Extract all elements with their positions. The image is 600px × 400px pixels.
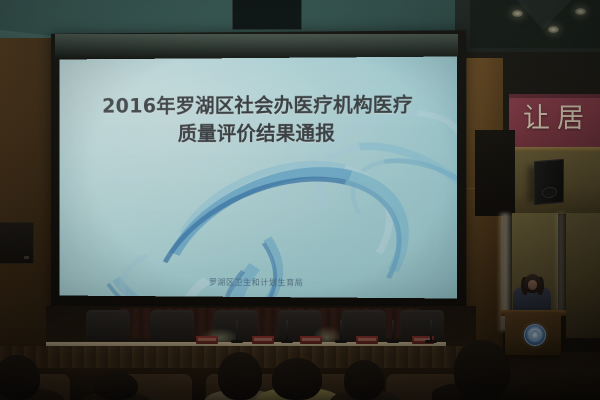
stage-nameplate	[252, 336, 274, 344]
stage-nameplate	[196, 336, 218, 344]
projection-screen-housing	[55, 34, 458, 58]
stage-nameplate	[300, 336, 322, 344]
slide-title-line-1: 2016年罗湖区社会办医疗机构医疗	[60, 91, 457, 121]
wall-speaker-right-icon	[534, 159, 564, 206]
slide-title: 2016年罗湖区社会办医疗机构医疗 质量评价结果通报	[60, 91, 457, 148]
audience-head	[0, 355, 40, 400]
microphone-base-icon	[425, 340, 437, 343]
nameplate-text-line	[198, 338, 216, 341]
podium-emblem-icon	[524, 324, 546, 346]
microphone-base-icon	[335, 340, 347, 343]
nameplate-text-line	[302, 338, 320, 341]
banner-text: 让居	[523, 103, 591, 135]
microphone-base-icon	[281, 340, 293, 343]
ceiling-downlight-icon	[512, 10, 523, 17]
podium	[505, 313, 561, 355]
speaker-cone-icon	[542, 186, 557, 198]
red-wall-banner: 让居	[509, 94, 600, 147]
right-wall-panel-far	[566, 213, 600, 338]
audience-head	[94, 372, 138, 400]
stage-microphone-icon	[392, 320, 394, 342]
microphone-base-icon	[387, 340, 399, 343]
ceiling-downlight-icon	[548, 26, 559, 33]
audience-head	[218, 352, 262, 400]
stage-microphone-icon	[340, 320, 342, 342]
nameplate-text-line	[254, 338, 272, 341]
ceiling-downlight-icon	[575, 8, 586, 15]
audience-head	[344, 360, 384, 400]
audience-head	[272, 358, 322, 400]
wall-speaker-left-icon	[0, 222, 34, 264]
projection-screen: 2016年罗湖区社会办医疗机构医疗 质量评价结果通报 罗湖区卫生和计划生育局	[60, 57, 457, 299]
ceiling-projector-recess	[232, 0, 302, 30]
stage-chair	[150, 310, 194, 340]
right-wall-dark-recess	[475, 130, 515, 216]
presenter-face	[528, 280, 537, 290]
slide-title-line-2: 质量评价结果通报	[60, 119, 457, 148]
stage-microphone-icon	[236, 320, 238, 342]
microphone-base-icon	[231, 340, 243, 343]
wall-light-column-secondary	[556, 213, 566, 313]
banner-top-shadow	[509, 94, 600, 98]
stage-microphone-icon	[430, 320, 432, 342]
conference-hall-photo: 让居 2016年罗湖区社会办医疗机构医疗 质量评价结果通报 罗湖区卫生和计划生育…	[0, 0, 600, 400]
stage-chair	[86, 310, 130, 340]
stage-nameplate	[356, 336, 378, 344]
stage-microphone-icon	[286, 320, 288, 342]
audience-head	[454, 340, 510, 400]
speaker-led-icon	[24, 256, 29, 259]
nameplate-text-line	[358, 338, 376, 341]
